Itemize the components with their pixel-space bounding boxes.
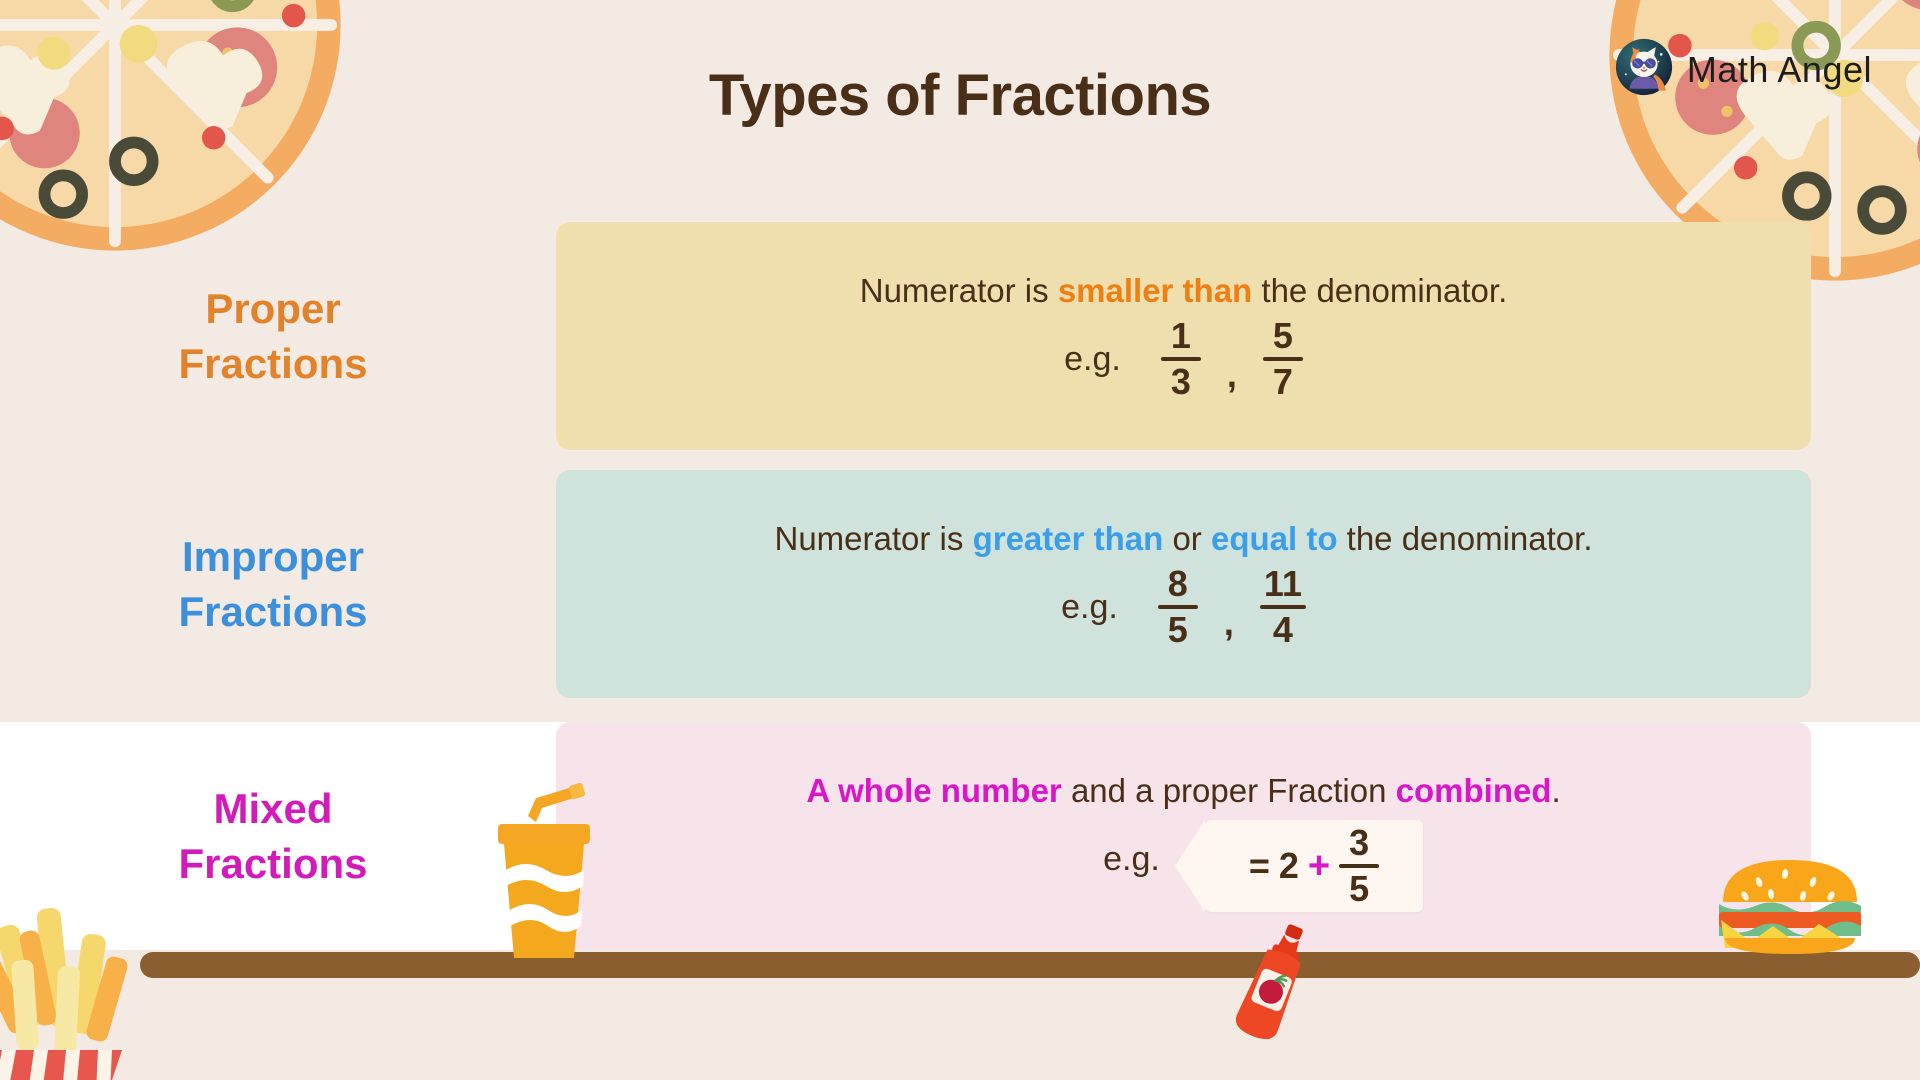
row-label-improper-line1: Improper (0, 529, 546, 584)
denominator: 5 (1345, 868, 1373, 907)
denominator: 5 (1164, 609, 1192, 648)
desc-post: the denominator. (1337, 520, 1592, 557)
card-improper-fractions: Numerator is greater than or equal to th… (556, 470, 1811, 698)
eg-label-mixed: e.g. (1103, 840, 1160, 879)
desc-highlight-2: equal to (1211, 520, 1338, 557)
example-separator: , (1224, 602, 1234, 648)
mixed-fraction-callout: = 2 + 3 5 (1205, 820, 1423, 912)
row-label-proper: Proper Fractions (0, 281, 556, 392)
fraction-improper-1: 8 5 (1158, 566, 1198, 648)
desc-pre: Numerator is (775, 520, 973, 557)
card-description-improper: Numerator is greater than or equal to th… (775, 520, 1593, 558)
numerator: 1 (1167, 318, 1195, 357)
desc-mid: or (1163, 520, 1211, 557)
numerator: 3 (1345, 825, 1373, 864)
brand-logo[interactable]: Math Angel (1615, 38, 1872, 101)
desc-mid: the denominator. (1252, 272, 1507, 309)
row-label-mixed: Mixed Fractions (0, 781, 556, 892)
eg-label-improper: e.g. (1061, 588, 1118, 627)
brand-name: Math Angel (1687, 49, 1872, 91)
denominator: 3 (1167, 361, 1195, 400)
row-proper-fractions: Proper Fractions Numerator is smaller th… (0, 222, 1920, 450)
row-label-proper-line1: Proper (0, 281, 546, 336)
row-label-improper-line2: Fractions (0, 584, 546, 639)
card-description-proper: Numerator is smaller than the denominato… (860, 272, 1508, 310)
denominator: 4 (1269, 609, 1297, 648)
desc-highlight-1: A whole number (806, 772, 1061, 809)
denominator: 7 (1269, 361, 1297, 400)
row-improper-fractions: Improper Fractions Numerator is greater … (0, 470, 1920, 698)
row-label-mixed-line1: Mixed (0, 781, 546, 836)
cat-mascot-icon (1615, 38, 1673, 101)
fraction-improper-2: 11 4 (1260, 566, 1306, 648)
example-row-proper: e.g. 1 3 , 5 7 (1064, 318, 1303, 400)
desc-highlight-1: smaller than (1058, 272, 1252, 309)
shelf-bar (140, 952, 1920, 978)
example-separator: , (1227, 354, 1237, 400)
fraction-proper-1: 1 3 (1161, 318, 1201, 400)
desc-post: . (1552, 772, 1561, 809)
numerator: 11 (1260, 566, 1306, 605)
callout-whole-number: 2 (1279, 845, 1299, 887)
card-proper-fractions: Numerator is smaller than the denominato… (556, 222, 1811, 450)
row-mixed-fractions: Mixed Fractions A whole number and a pro… (0, 722, 1920, 950)
desc-pre: Numerator is (860, 272, 1058, 309)
eg-label-proper: e.g. (1064, 340, 1121, 379)
row-label-improper: Improper Fractions (0, 529, 556, 640)
card-description-mixed: A whole number and a proper Fraction com… (806, 772, 1560, 810)
numerator: 5 (1269, 318, 1297, 357)
infographic-canvas: Types of Fractions (0, 0, 1920, 1080)
numerator: 8 (1164, 566, 1192, 605)
example-row-improper: e.g. 8 5 , 11 4 (1061, 566, 1306, 648)
row-label-mixed-line2: Fractions (0, 836, 546, 891)
row-label-proper-line2: Fractions (0, 336, 546, 391)
desc-mid: and a proper Fraction (1062, 772, 1396, 809)
fraction-proper-2: 5 7 (1263, 318, 1303, 400)
desc-highlight-1: greater than (973, 520, 1164, 557)
equals-sign: = (1249, 845, 1270, 887)
callout-fraction: 3 5 (1339, 825, 1379, 907)
plus-sign: + (1308, 845, 1330, 888)
desc-highlight-2: combined (1396, 772, 1552, 809)
